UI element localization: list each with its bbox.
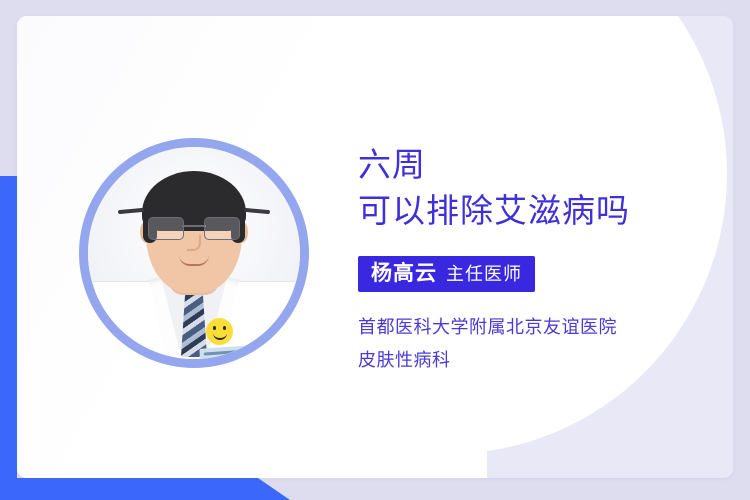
article-title: 六周 可以排除艾滋病吗 — [358, 142, 733, 234]
avatar-photo — [88, 147, 300, 359]
poster-canvas: 六周 可以排除艾滋病吗 杨高云 主任医师 首都医科大学附属北京友谊医院 皮肤性病… — [0, 0, 750, 500]
doctor-card: 六周 可以排除艾滋病吗 杨高云 主任医师 首都医科大学附属北京友谊医院 皮肤性病… — [17, 16, 733, 478]
department-name: 皮肤性病科 — [358, 344, 733, 377]
right-lens-shape — [204, 217, 240, 240]
blue-angled-band — [0, 478, 290, 500]
hospital-name: 首都医科大学附属北京友谊医院 — [358, 311, 733, 344]
info-block: 六周 可以排除艾滋病吗 杨高云 主任医师 首都医科大学附属北京友谊医院 皮肤性病… — [358, 142, 733, 377]
doctor-name: 杨高云 — [371, 263, 437, 284]
affiliation-block: 首都医科大学附属北京友谊医院 皮肤性病科 — [358, 311, 733, 377]
blue-left-rail — [0, 176, 17, 500]
smiley-mouth — [213, 331, 227, 340]
glasses-bridge-shape — [182, 225, 206, 227]
id-badge-line — [204, 350, 244, 356]
doctor-professional-title: 主任医师 — [446, 265, 522, 283]
smiley-left-eye — [213, 326, 216, 330]
smiley-right-eye — [223, 326, 226, 330]
avatar[interactable] — [79, 138, 309, 368]
id-badge-line — [204, 357, 234, 359]
left-lens-shape — [148, 217, 184, 240]
doctor-name-badge: 杨高云 主任医师 — [358, 256, 535, 292]
smiley-face-pin-icon — [206, 318, 233, 345]
